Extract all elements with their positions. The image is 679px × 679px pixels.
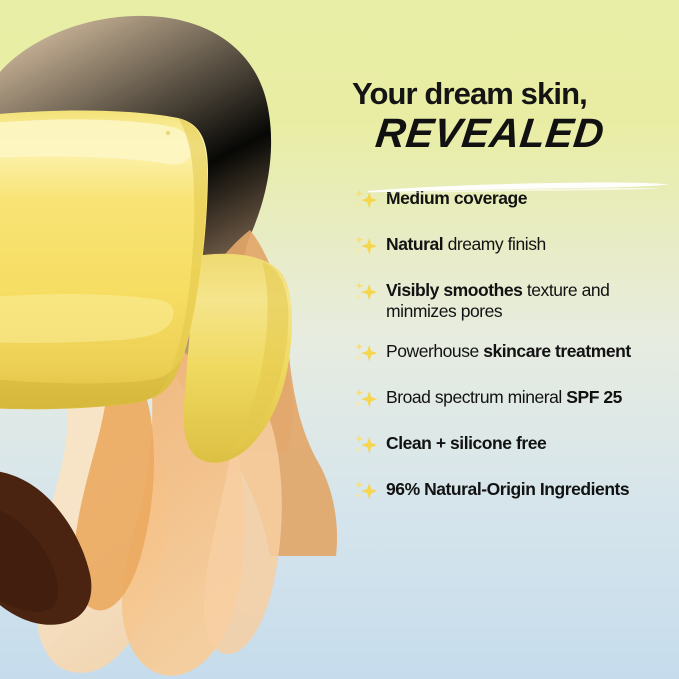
benefit-label: 96% Natural-Origin Ingredients bbox=[386, 477, 629, 500]
benefit-label: Medium coverage bbox=[386, 186, 527, 209]
benefit-label: Powerhouse skincare treatment bbox=[386, 339, 631, 362]
list-item: Natural dreamy finish bbox=[352, 232, 665, 261]
benefit-label: Natural dreamy finish bbox=[386, 232, 546, 255]
list-item: Visibly smoothes texture and minmizes po… bbox=[352, 278, 665, 322]
list-item: 96% Natural-Origin Ingredients bbox=[352, 477, 665, 506]
sparkle-icon bbox=[352, 233, 380, 261]
headline-line-2: REVEALED bbox=[373, 112, 667, 155]
sparkle-icon bbox=[352, 279, 380, 307]
headline-line-1: Your dream skin, bbox=[352, 78, 665, 110]
benefit-label: Broad spectrum mineral SPF 25 bbox=[386, 385, 622, 408]
benefits-list: Medium coverage Natural dreamy finish bbox=[348, 186, 665, 506]
advertisement-canvas: Your dream skin, REVEALED Medium coverag… bbox=[0, 0, 679, 679]
headline-block: Your dream skin, REVEALED bbox=[348, 78, 665, 156]
sparkle-icon bbox=[352, 478, 380, 506]
product-image bbox=[0, 0, 345, 679]
benefit-label: Visibly smoothes texture and minmizes po… bbox=[386, 278, 665, 322]
benefit-label: Clean + silicone free bbox=[386, 431, 546, 454]
list-item: Medium coverage bbox=[352, 186, 665, 215]
sparkle-icon bbox=[352, 340, 380, 368]
marketing-copy-panel: Your dream skin, REVEALED Medium coverag… bbox=[348, 0, 679, 679]
list-item: Clean + silicone free bbox=[352, 431, 665, 460]
sparkle-icon bbox=[352, 187, 380, 215]
sparkle-icon bbox=[352, 386, 380, 414]
sparkle-icon bbox=[352, 432, 380, 460]
list-item: Broad spectrum mineral SPF 25 bbox=[352, 385, 665, 414]
list-item: Powerhouse skincare treatment bbox=[352, 339, 665, 368]
